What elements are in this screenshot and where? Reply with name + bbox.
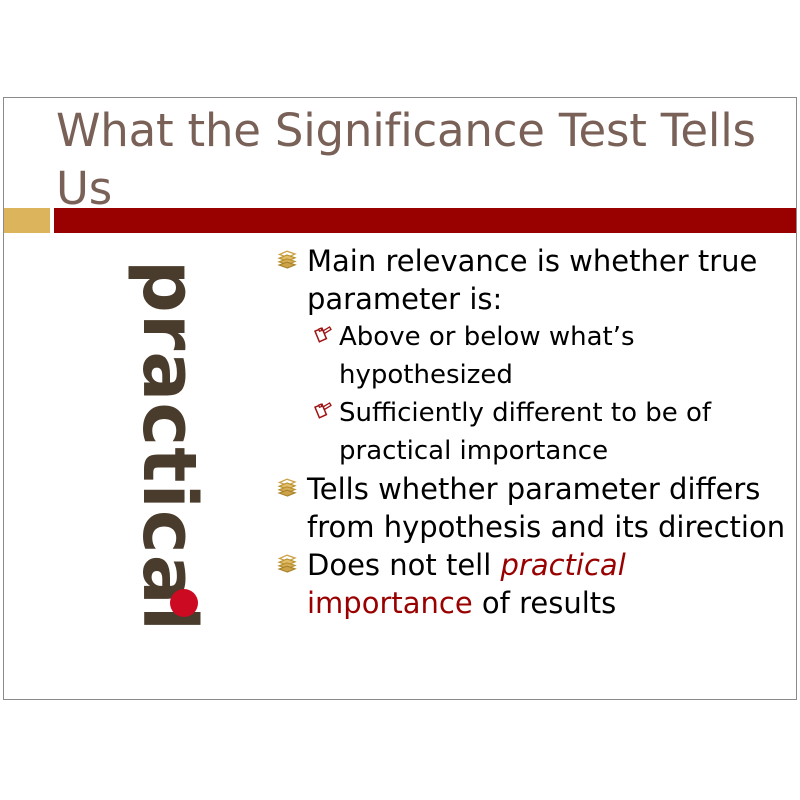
- bullet-item: Sufficiently different to be of practica…: [274, 394, 790, 470]
- wordmark-red-dot-icon: [170, 589, 198, 617]
- bullet-text: Tells whether parameter differs from hyp…: [307, 470, 790, 546]
- emphasis-practical: practical: [501, 548, 626, 582]
- bullet-item: Tells whether parameter differs from hyp…: [274, 470, 790, 546]
- bullet-item: Does not tell practical importance of re…: [274, 546, 790, 622]
- stack-of-books-icon: [276, 476, 298, 498]
- divider-red-bar: [54, 208, 797, 233]
- bullet-list: Main relevance is whether true parameter…: [274, 242, 790, 622]
- bullet-item: Above or below what’s hypothesized: [274, 318, 790, 394]
- bullet-text-part: of results: [473, 586, 617, 620]
- clipboard-pen-icon: [310, 400, 332, 422]
- divider-gold-block: [3, 208, 50, 233]
- stack-of-books-icon: [276, 248, 298, 270]
- emphasis-importance: importance: [307, 586, 473, 620]
- title-divider-band: [3, 208, 797, 233]
- slide-frame: What the Significance Test Tells Us prac…: [3, 97, 797, 700]
- bullet-text: Above or below what’s hypothesized: [339, 318, 790, 394]
- vertical-wordmark: practical: [114, 246, 224, 646]
- bullet-text: Sufficiently different to be of practica…: [339, 394, 790, 470]
- vertical-wordmark-text: practical: [132, 260, 206, 632]
- bullet-text-rich: Does not tell practical importance of re…: [307, 546, 790, 622]
- slide-title: What the Significance Test Tells Us: [56, 102, 756, 218]
- bullet-text: Main relevance is whether true parameter…: [307, 242, 790, 318]
- bullet-text-part: Does not tell: [307, 548, 501, 582]
- stack-of-books-icon: [276, 552, 298, 574]
- bullet-item: Main relevance is whether true parameter…: [274, 242, 790, 318]
- clipboard-pen-icon: [310, 324, 332, 346]
